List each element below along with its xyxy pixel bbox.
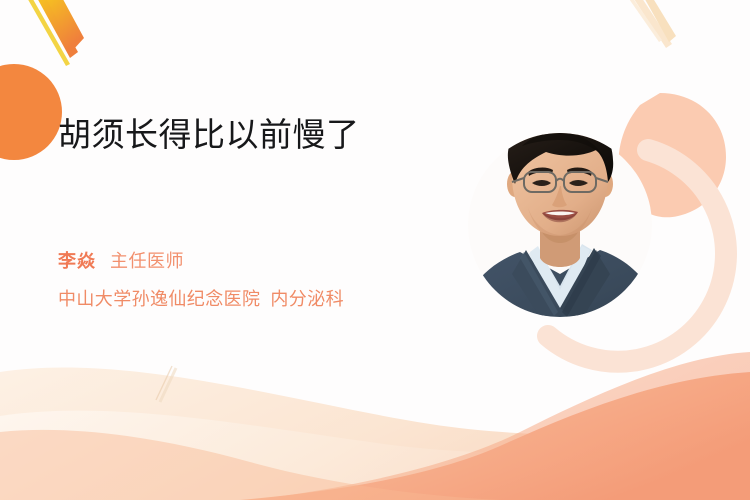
doctor-department: 内分泌科 xyxy=(270,289,344,309)
thin-diagonal-line-decoration xyxy=(156,366,176,402)
bottom-wave-decoration xyxy=(0,352,750,500)
portrait-photo xyxy=(468,98,653,350)
pale-diagonal-stripes-decoration xyxy=(627,0,676,48)
page-title: 胡须长得比以前慢了 xyxy=(58,112,398,158)
doctor-name: 李焱 xyxy=(58,251,96,271)
doctor-title: 主任医师 xyxy=(110,251,184,271)
doctor-intro-card: 胡须长得比以前慢了 李焱主任医师 中山大学孙逸仙纪念医院内分泌科 xyxy=(0,0,750,500)
headline-block: 胡须长得比以前慢了 xyxy=(58,112,418,158)
doctor-affiliation-row: 中山大学孙逸仙纪念医院内分泌科 xyxy=(58,284,344,314)
orange-circle-decoration xyxy=(0,64,62,160)
doctor-portrait xyxy=(468,98,653,350)
doctor-hospital: 中山大学孙逸仙纪念医院 xyxy=(58,289,260,309)
doctor-credit-block: 李焱主任医师 中山大学孙逸仙纪念医院内分泌科 xyxy=(58,246,344,314)
doctor-name-row: 李焱主任医师 xyxy=(58,246,344,276)
diagonal-stripes-decoration xyxy=(26,0,86,66)
